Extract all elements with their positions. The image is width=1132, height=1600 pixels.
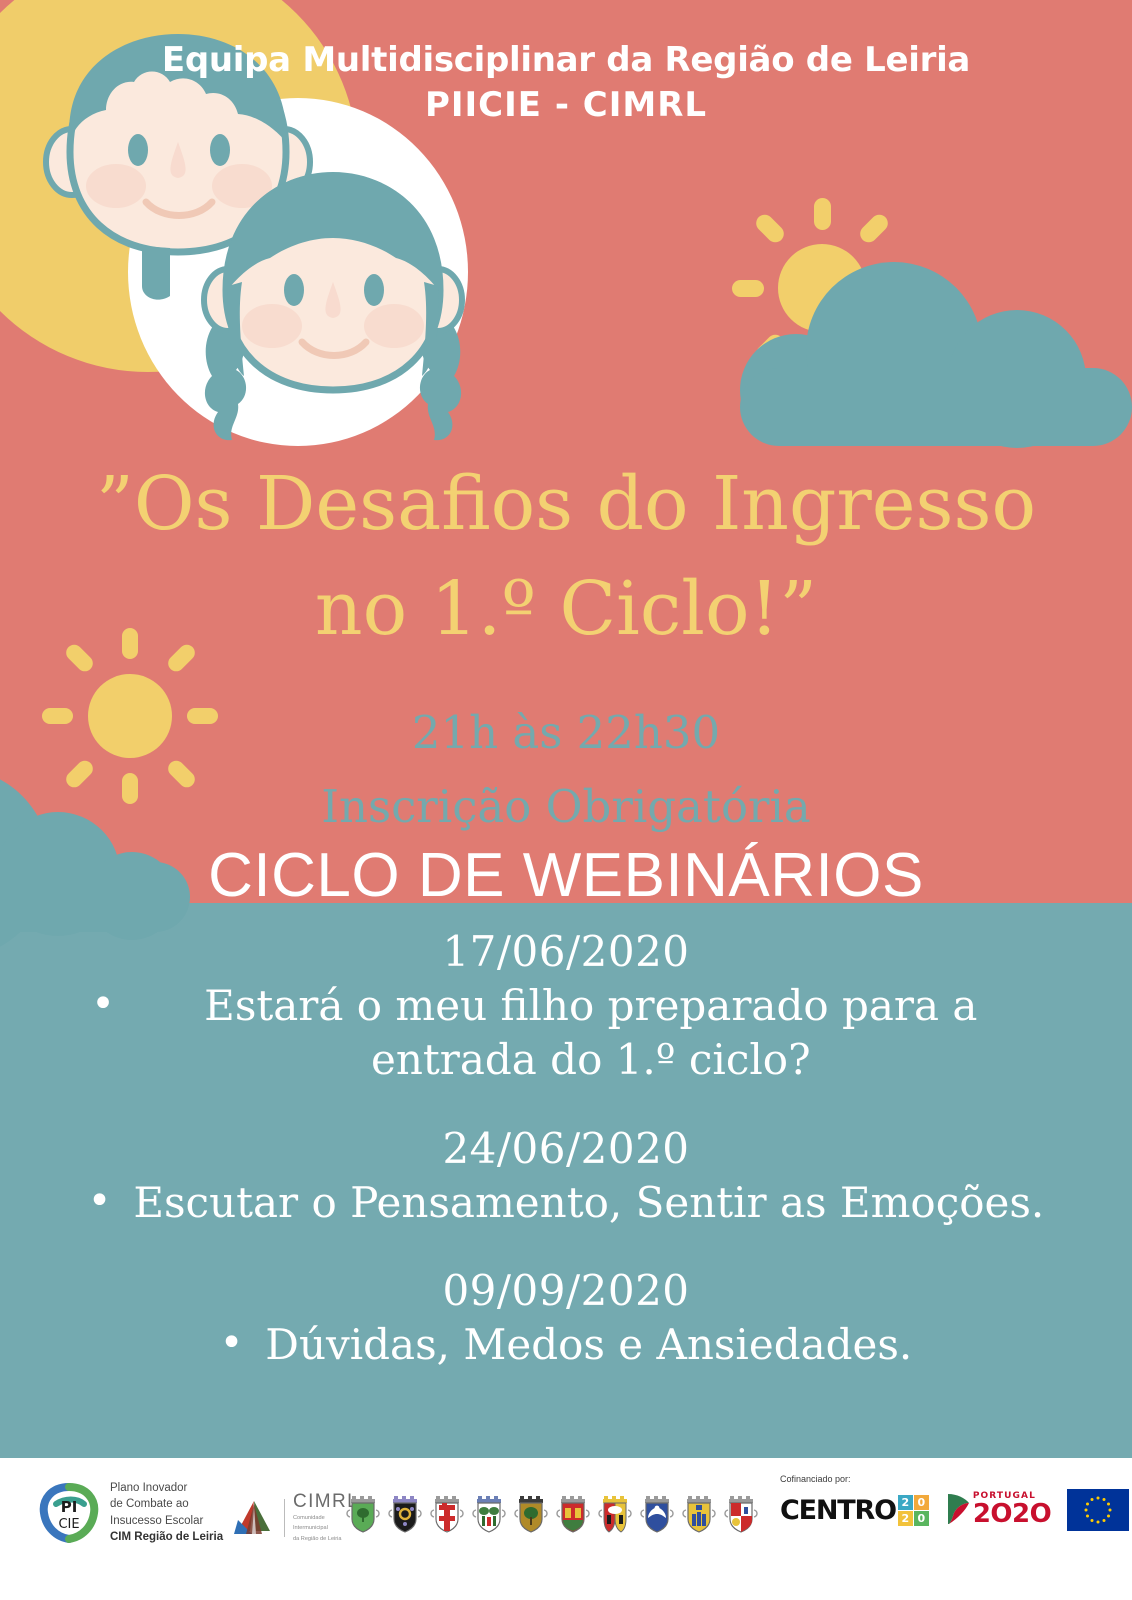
poster-root: Equipa Multidisciplinar da Região de Lei… (0, 0, 1132, 1600)
coat-of-arms-icon (512, 1490, 550, 1536)
footer-logo-strip: PI CIE Plano Inovador de Combate ao Insu… (0, 1458, 1132, 1600)
svg-text:PI: PI (61, 1498, 78, 1516)
centro-cell: 2 (898, 1495, 913, 1510)
picie-mark-icon: PI CIE (38, 1482, 100, 1544)
coat-of-arms-icon (596, 1490, 634, 1536)
picie-logo: PI CIE Plano Inovador de Combate ao Insu… (38, 1480, 223, 1545)
coat-of-arms-icon (386, 1490, 424, 1536)
coat-of-arms-icon (344, 1490, 382, 1536)
webinar-topic: Dúvidas, Medos e Ansiedades. (265, 1318, 912, 1373)
bullet-icon: • (91, 979, 141, 1030)
coat-of-arms-icon (428, 1490, 466, 1536)
portugal-year: 2O2O (973, 1501, 1051, 1528)
portugal-2020-logo: PORTUGAL 2O2O (945, 1491, 1051, 1530)
webinar-item: 24/06/2020 • Escutar o Pensamento, Senti… (0, 1122, 1132, 1230)
municipal-coats-of-arms-row (344, 1490, 760, 1536)
webinar-item: 17/06/2020 • Estará o meu filho preparad… (0, 925, 1132, 1088)
schedule-block: 21h às 22h30 Inscrição Obrigatória (0, 696, 1132, 845)
org-header-line1: Equipa Multidisciplinar da Região de Lei… (0, 38, 1132, 83)
picie-line2: de Combate ao (110, 1496, 223, 1512)
webinar-date: 24/06/2020 (0, 1122, 1132, 1176)
main-title-line1: ”Os Desafios do Ingresso (0, 452, 1132, 557)
main-title-line2: no 1.º Ciclo!” (0, 557, 1132, 662)
organisation-header: Equipa Multidisciplinar da Região de Lei… (0, 38, 1132, 128)
portugal-flag-icon (945, 1491, 971, 1530)
funding-logos-row: CENTRO 2 0 2 0 (780, 1489, 1132, 1531)
registration-note: Inscrição Obrigatória (0, 770, 1132, 844)
picie-line3: Insucesso Escolar (110, 1513, 223, 1529)
picie-line1: Plano Inovador (110, 1480, 223, 1496)
schedule-time: 21h às 22h30 (0, 696, 1132, 770)
org-header-line2: PIICIE - CIMRL (0, 83, 1132, 128)
poster-main-title: ”Os Desafios do Ingresso no 1.º Ciclo!” (0, 452, 1132, 662)
centro-wordmark: CENTRO (780, 1497, 896, 1524)
european-union-logo: UNIÃO EUROPEIA Fundo Social Europeu (1067, 1489, 1132, 1531)
webinar-date: 17/06/2020 (0, 925, 1132, 979)
cofinanced-label: Cofinanciado por: (780, 1474, 1132, 1484)
webinar-topic: Escutar o Pensamento, Sentir as Emoções. (133, 1176, 1044, 1231)
picie-line4: CIM Região de Leiria (110, 1529, 223, 1545)
coat-of-arms-icon (680, 1490, 718, 1536)
funding-block: Cofinanciado por: CENTRO 2 0 2 0 (780, 1474, 1132, 1531)
webinar-topic-row: • Escutar o Pensamento, Sentir as Emoçõe… (0, 1176, 1132, 1231)
svg-text:CIE: CIE (58, 1517, 79, 1532)
webinar-topic-row: • Dúvidas, Medos e Ansiedades. (0, 1318, 1132, 1373)
coat-of-arms-icon (470, 1490, 508, 1536)
centro-2020-grid: 2 0 2 0 (898, 1495, 929, 1526)
centro-cell: 0 (914, 1495, 929, 1510)
portugal-2020-wordmark: PORTUGAL 2O2O (973, 1492, 1051, 1528)
picie-logo-text: Plano Inovador de Combate ao Insucesso E… (110, 1480, 223, 1545)
girl-face-illustration (182, 160, 484, 450)
coat-of-arms-icon (722, 1490, 760, 1536)
centro-2020-logo: CENTRO 2 0 2 0 (780, 1495, 929, 1526)
coat-of-arms-icon (638, 1490, 676, 1536)
cimrl-mark-icon (232, 1498, 276, 1538)
cimrl-logo: CIMRL Comunidade Intermunicipal da Regiã… (232, 1492, 359, 1543)
webinar-date: 09/09/2020 (0, 1264, 1132, 1318)
cimrl-divider (284, 1499, 285, 1537)
webinar-topic: Estará o meu filho preparado para a entr… (141, 979, 1041, 1088)
webinar-topic-row: • Estará o meu filho preparado para a en… (0, 979, 1132, 1088)
eu-flag-icon (1067, 1489, 1129, 1531)
webinar-item: 09/09/2020 • Dúvidas, Medos e Ansiedades… (0, 1264, 1132, 1372)
centro-cell: 2 (898, 1511, 913, 1526)
cloud-top-right-icon (732, 248, 1132, 432)
webinar-list: 17/06/2020 • Estará o meu filho preparad… (0, 925, 1132, 1407)
bullet-icon: • (88, 1176, 134, 1227)
centro-cell: 0 (914, 1511, 929, 1526)
bullet-icon: • (220, 1318, 266, 1369)
section-heading: CICLO DE WEBINÁRIOS (0, 840, 1132, 911)
coat-of-arms-icon (554, 1490, 592, 1536)
